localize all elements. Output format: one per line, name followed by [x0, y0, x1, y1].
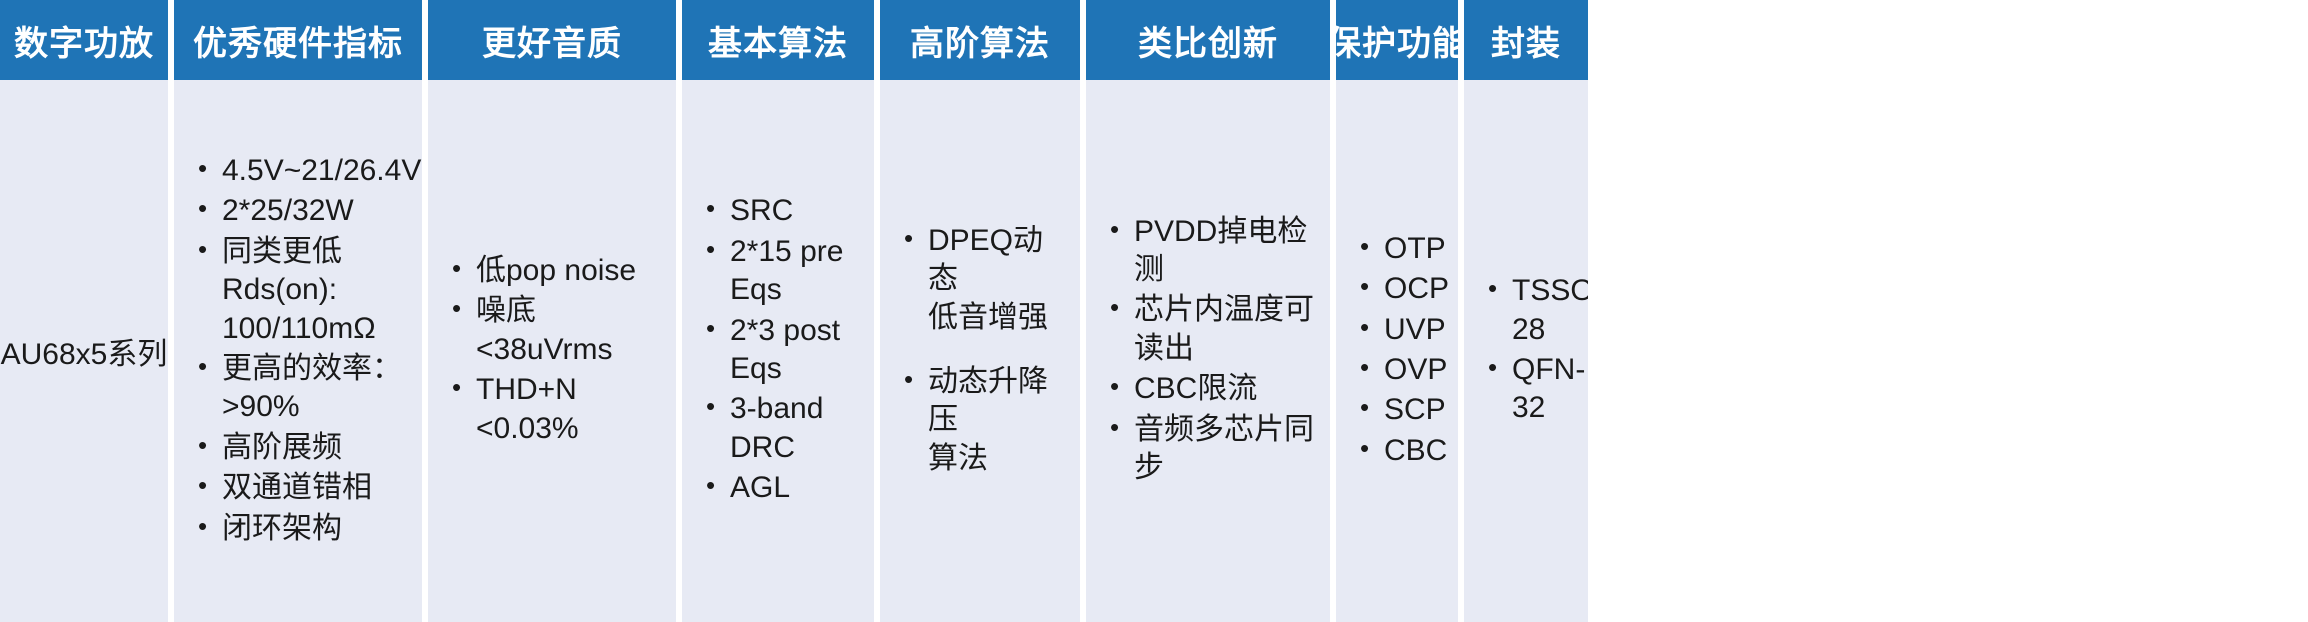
protection-bullet-list: OTP OCP UVP OVP SCP CBC	[1336, 230, 1458, 472]
table-row: AU68x5系列 4.5V~21/26.4V 2*25/32W 同类更低Rds(…	[0, 80, 2308, 622]
cell-package: TSSOP- 28 QFN-32	[1464, 80, 1588, 622]
list-item: THD+N <0.03%	[446, 371, 668, 448]
header-cell-package: 封装	[1464, 0, 1588, 80]
list-item: 音频多芯片同步	[1104, 411, 1322, 488]
list-item: 芯片内温度可读出	[1104, 291, 1322, 368]
list-item: 2*3 post Eqs	[700, 312, 866, 389]
list-item: 高阶展频	[192, 429, 414, 467]
header-cell-basic-algorithms: 基本算法	[682, 0, 874, 80]
table-header-row: 数字功放 优秀硬件指标 更好音质 基本算法 高阶算法 类比创新 保护功能 封装	[0, 0, 2308, 80]
cell-advanced-algorithms: DPEQ动态 低音增强 动态升降压 算法	[880, 80, 1080, 622]
header-cell-advanced-algorithms: 高阶算法	[880, 0, 1080, 80]
list-item: OTP	[1354, 230, 1450, 268]
list-item: OVP	[1354, 351, 1450, 389]
header-cell-audio-quality: 更好音质	[428, 0, 676, 80]
list-item: OCP	[1354, 270, 1450, 308]
list-item: CBC	[1354, 432, 1450, 470]
list-item: TSSOP- 28	[1482, 272, 1580, 349]
list-item: PVDD掉电检测	[1104, 213, 1322, 290]
list-item: 3-band DRC	[700, 390, 866, 467]
header-cell-protection: 保护功能	[1336, 0, 1458, 80]
list-item: 低pop noise	[446, 252, 668, 290]
cell-basic-algorithms: SRC 2*15 pre Eqs 2*3 post Eqs 3-band DRC…	[682, 80, 874, 622]
list-item: SCP	[1354, 391, 1450, 429]
list-item: UVP	[1354, 311, 1450, 349]
list-item: AGL	[700, 469, 866, 507]
hardware-bullet-list: 4.5V~21/26.4V 2*25/32W 同类更低Rds(on): 100/…	[174, 152, 422, 550]
analog-innovation-bullet-list: PVDD掉电检测 芯片内温度可读出 CBC限流 音频多芯片同步	[1086, 213, 1330, 490]
package-bullet-list: TSSOP- 28 QFN-32	[1464, 272, 1588, 430]
list-item: 2*15 pre Eqs	[700, 233, 866, 310]
list-item: SRC	[700, 192, 866, 230]
list-item: 闭环架构	[192, 510, 414, 548]
header-cell-hardware-spec: 优秀硬件指标	[174, 0, 422, 80]
basic-algorithms-bullet-list: SRC 2*15 pre Eqs 2*3 post Eqs 3-band DRC…	[682, 192, 874, 509]
cell-protection: OTP OCP UVP OVP SCP CBC	[1336, 80, 1458, 622]
list-item: 4.5V~21/26.4V	[192, 152, 414, 190]
list-item: DPEQ动态 低音增强	[898, 222, 1072, 337]
list-item: 噪底<38uVrms	[446, 292, 668, 369]
list-item: 动态升降压 算法	[898, 363, 1072, 478]
list-item: CBC限流	[1104, 370, 1322, 408]
advanced-algorithms-bullet-list: DPEQ动态 低音增强 动态升降压 算法	[880, 222, 1080, 480]
list-item: 2*25/32W	[192, 192, 414, 230]
list-item: 更高的效率： >90%	[192, 350, 414, 427]
list-item: QFN-32	[1482, 351, 1580, 428]
header-cell-digital-amp: 数字功放	[0, 0, 168, 80]
list-item: 同类更低Rds(on): 100/110mΩ	[192, 233, 414, 348]
cell-series: AU68x5系列	[0, 80, 168, 622]
list-item: 双通道错相	[192, 469, 414, 507]
audio-quality-bullet-list: 低pop noise 噪底<38uVrms THD+N <0.03%	[428, 252, 676, 450]
cell-audio-quality: 低pop noise 噪底<38uVrms THD+N <0.03%	[428, 80, 676, 622]
series-label: AU68x5系列	[1, 329, 168, 373]
cell-analog-innovation: PVDD掉电检测 芯片内温度可读出 CBC限流 音频多芯片同步	[1086, 80, 1330, 622]
cell-hardware-spec: 4.5V~21/26.4V 2*25/32W 同类更低Rds(on): 100/…	[174, 80, 422, 622]
spec-table: 数字功放 优秀硬件指标 更好音质 基本算法 高阶算法 类比创新 保护功能 封装 …	[0, 0, 2308, 622]
header-cell-analog-innovation: 类比创新	[1086, 0, 1330, 80]
